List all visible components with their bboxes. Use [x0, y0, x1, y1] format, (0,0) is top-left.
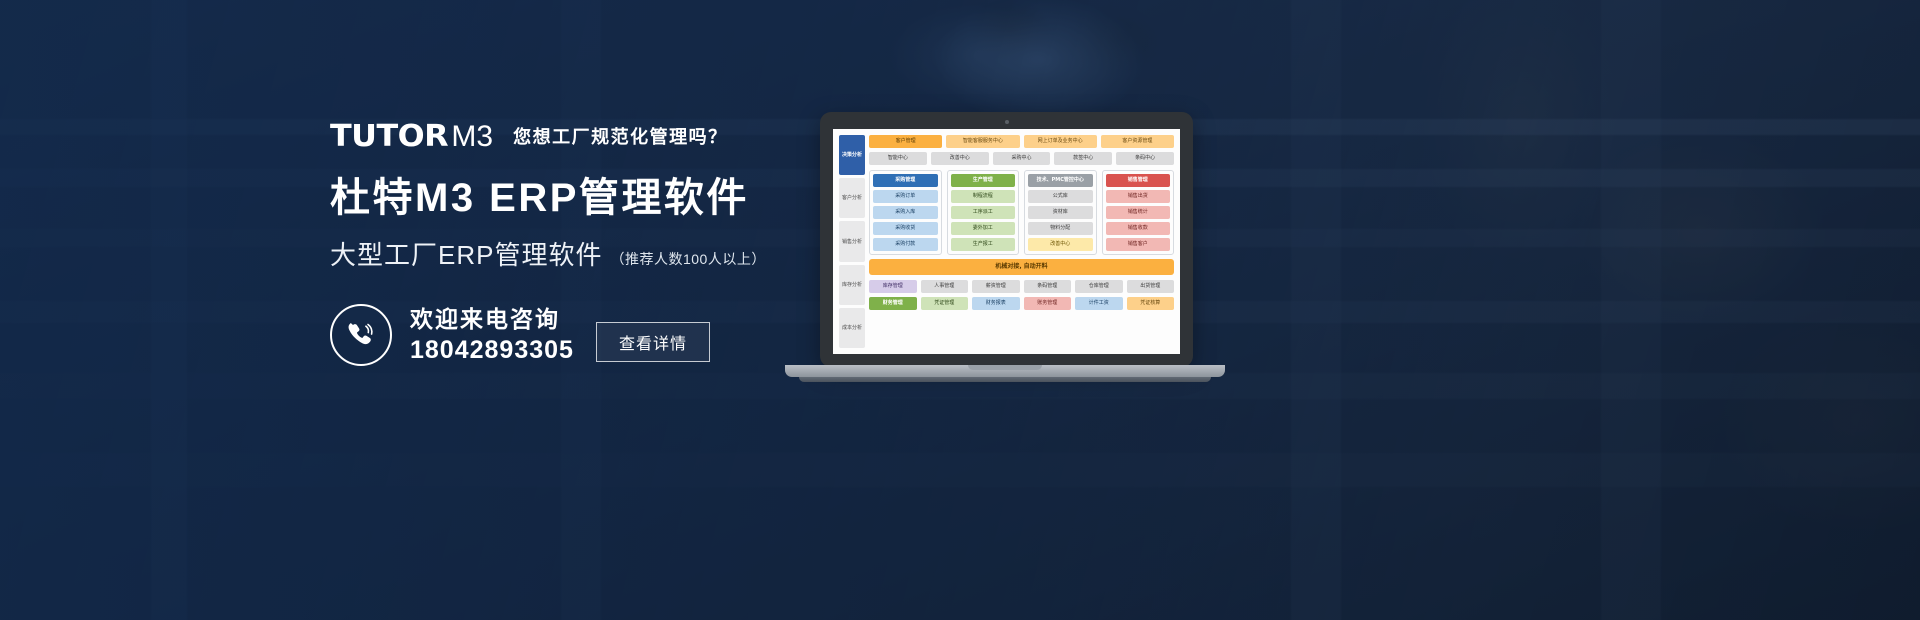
erp-chip: 采购付款: [873, 238, 938, 251]
banner-text-block: TUTOR M3 您想工厂规范化管理吗？ 杜特M3 ERP管理软件 大型工厂ER…: [330, 118, 850, 366]
erp-diagram: 决策分析 客户分析 销售分析 库存分析 成本分析 客户管理 智能客服服务中心: [833, 129, 1180, 354]
erp-chip: 条码管理: [1024, 280, 1072, 293]
subtitle-note: （推荐人数100人以上）: [610, 249, 765, 269]
erp-rail-item: 销售分析: [839, 221, 865, 261]
erp-chip: 改善中心: [1028, 238, 1093, 251]
erp-chip: 出货管理: [1127, 280, 1175, 293]
banner-content: TUTOR M3 您想工厂规范化管理吗？ 杜特M3 ERP管理软件 大型工厂ER…: [0, 0, 1920, 620]
erp-row-finance: 财务管理 凭证管理 财务报表 账务管理 计件工资 凭证核算: [869, 297, 1174, 310]
erp-body: 客户管理 智能客服服务中心 网上订单及业务中心 客户资源管理 智能中心 改善中心…: [869, 135, 1174, 348]
brand-logo-secondary: M3: [451, 122, 493, 152]
erp-column-purchase: 采购管理 采购订单 采购入库 采购收货 采购付款: [869, 170, 942, 255]
laptop-camera-icon: [1005, 120, 1009, 124]
erp-chip: 制程流程: [951, 190, 1016, 203]
erp-rail-item: 决策分析: [839, 135, 865, 175]
erp-chip: 采购订单: [873, 190, 938, 203]
erp-chip: 委外加工: [951, 222, 1016, 235]
erp-chip: 库存管理: [869, 280, 917, 293]
erp-chip: 薪资管理: [972, 280, 1020, 293]
phone-text-block: 欢迎来电咨询 18042893305: [410, 305, 574, 365]
erp-row-storage: 库存管理 人事管理 薪资管理 条码管理 仓库管理 出货管理: [869, 280, 1174, 293]
erp-chip: 工序派工: [951, 206, 1016, 219]
erp-chip: 销售出货: [1106, 190, 1171, 203]
laptop-mockup: 决策分析 客户分析 销售分析 库存分析 成本分析 客户管理 智能客服服务中心: [785, 112, 1225, 387]
erp-chip: 条码中心: [1116, 152, 1174, 165]
brand-logo: TUTOR M3 您想工厂规范化管理吗？: [330, 118, 850, 152]
erp-rail: 决策分析 客户分析 销售分析 库存分析 成本分析: [839, 135, 865, 348]
page-title: 杜特M3 ERP管理软件: [330, 174, 850, 222]
erp-row-service: 智能中心 改善中心 采购中心 款签中心 条码中心: [869, 152, 1174, 165]
erp-chip: 销售统计: [1106, 206, 1171, 219]
erp-module-columns: 采购管理 采购订单 采购入库 采购收货 采购付款 生产管理 制程流程 工序派工: [869, 170, 1174, 255]
view-details-button[interactable]: 查看详情: [596, 322, 710, 362]
erp-chip: 凭证管理: [921, 297, 969, 310]
brand-tagline: 您想工厂规范化管理吗？: [513, 122, 728, 152]
laptop-screen: 决策分析 客户分析 销售分析 库存分析 成本分析 客户管理 智能客服服务中心: [833, 129, 1180, 354]
subtitle-row: 大型工厂ERP管理软件 （推荐人数100人以上）: [330, 238, 850, 272]
erp-chip: 账务管理: [1024, 297, 1072, 310]
phone-icon: [330, 304, 392, 366]
erp-chip: 智能中心: [869, 152, 927, 165]
erp-column-quality: 技术、PMC管控中心 公式库 资材库 物料分配 改善中心: [1024, 170, 1097, 255]
erp-highlight-strip: 机械对接, 自动开料: [869, 259, 1174, 275]
laptop-notch: [968, 365, 1042, 370]
erp-chip: 销售收款: [1106, 222, 1171, 235]
erp-chip: 网上订单及业务中心: [1024, 135, 1097, 148]
erp-column-title: 采购管理: [873, 174, 938, 187]
erp-chip: 采购中心: [993, 152, 1051, 165]
erp-rail-item: 库存分析: [839, 265, 865, 305]
phone-number[interactable]: 18042893305: [410, 335, 574, 365]
erp-chip: 生产报工: [951, 238, 1016, 251]
erp-rail-item: 客户分析: [839, 178, 865, 218]
erp-chip: 智能客服服务中心: [946, 135, 1019, 148]
erp-chip: 财务管理: [869, 297, 917, 310]
erp-rail-item: 成本分析: [839, 308, 865, 348]
erp-chip: 客户管理: [869, 135, 942, 148]
erp-column-production: 生产管理 制程流程 工序派工 委外加工 生产报工: [947, 170, 1020, 255]
erp-column-title: 销售管理: [1106, 174, 1171, 187]
laptop-lid: 决策分析 客户分析 销售分析 库存分析 成本分析 客户管理 智能客服服务中心: [820, 112, 1193, 367]
phone-label: 欢迎来电咨询: [410, 305, 574, 333]
erp-row-customer: 客户管理 智能客服服务中心 网上订单及业务中心 客户资源管理: [869, 135, 1174, 148]
erp-chip: 仓库管理: [1075, 280, 1123, 293]
erp-chip: 销售客户: [1106, 238, 1171, 251]
subtitle-main: 大型工厂ERP管理软件: [330, 238, 602, 272]
cta-row: 欢迎来电咨询 18042893305 查看详情: [330, 304, 850, 366]
erp-chip: 采购入库: [873, 206, 938, 219]
erp-chip: 凭证核算: [1127, 297, 1175, 310]
erp-column-title: 技术、PMC管控中心: [1028, 174, 1093, 187]
erp-chip: 客户资源管理: [1101, 135, 1174, 148]
laptop-foot: [799, 377, 1211, 382]
erp-chip: 物料分配: [1028, 222, 1093, 235]
erp-chip: 款签中心: [1054, 152, 1112, 165]
erp-chip: 资材库: [1028, 206, 1093, 219]
brand-logo-primary: TUTOR: [330, 122, 448, 152]
erp-chip: 人事管理: [921, 280, 969, 293]
erp-column-title: 生产管理: [951, 174, 1016, 187]
erp-chip: 改善中心: [931, 152, 989, 165]
erp-column-sales: 销售管理 销售出货 销售统计 销售收款 销售客户: [1102, 170, 1175, 255]
erp-chip: 计件工资: [1075, 297, 1123, 310]
erp-chip: 采购收货: [873, 222, 938, 235]
erp-chip: 财务报表: [972, 297, 1020, 310]
erp-chip: 公式库: [1028, 190, 1093, 203]
